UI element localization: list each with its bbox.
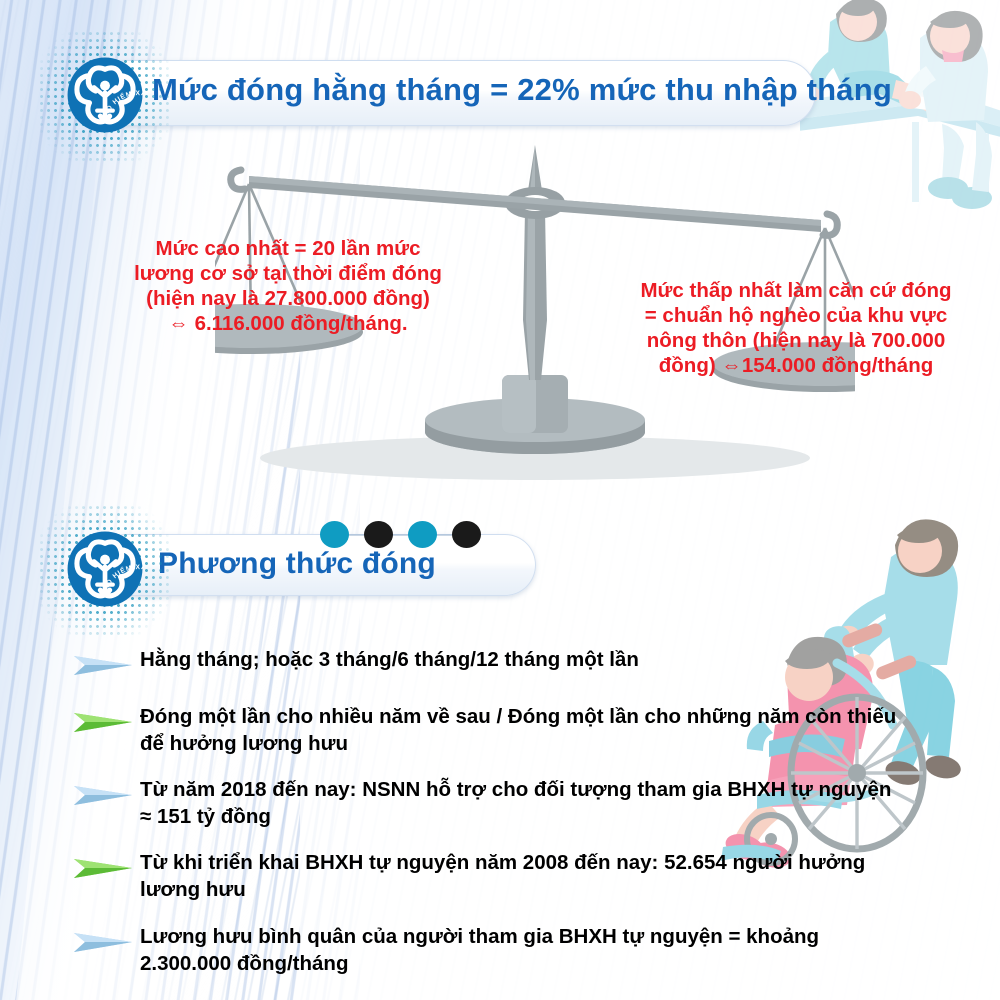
dot-4 xyxy=(452,521,481,548)
bhxh-logo: BẢO HIỂM XÃ HỘI VIỆT NAM xyxy=(66,56,144,134)
paper-plane-icon xyxy=(72,778,134,814)
list-item-text: Từ khi triển khai BHXH tự nguyện năm 200… xyxy=(140,849,970,903)
bhxh-logo-secondary: BẢO HIỂM XÃ HỘI VIỆT NAM xyxy=(66,530,144,608)
dot-1 xyxy=(320,521,349,548)
callout-lowest-contribution: Mức thấp nhất làm căn cứ đóng = chuẩn hộ… xyxy=(600,278,992,378)
paper-plane-icon xyxy=(72,648,134,684)
list-item-text: Từ năm 2018 đến nay: NSNN hỗ trợ cho đối… xyxy=(140,776,970,830)
list-item-text: Đóng một lần cho nhiều năm về sau / Đóng… xyxy=(140,703,970,757)
callout-highest-contribution: Mức cao nhất = 20 lần mức lương cơ sở tạ… xyxy=(98,236,478,336)
section2-title: Phương thức đóng xyxy=(158,547,436,581)
list-item-text: Lương hưu bình quân của người tham gia B… xyxy=(140,923,970,977)
bhxh-logo-icon-secondary: BẢO HIỂM XÃ HỘI VIỆT NAM xyxy=(66,530,144,608)
list-item-text: Hằng tháng; hoặc 3 tháng/6 tháng/12 thán… xyxy=(140,646,970,673)
paper-plane-icon xyxy=(72,851,134,887)
section1-title: Mức đóng hằng tháng = 22% mức thu nhập t… xyxy=(152,72,892,108)
bhxh-logo-icon: BẢO HIỂM XÃ HỘI VIỆT NAM xyxy=(66,56,144,134)
decorative-dots xyxy=(320,518,480,552)
paper-plane-icon xyxy=(72,705,134,741)
dot-3 xyxy=(408,521,437,548)
dot-2 xyxy=(364,521,393,548)
infographic-page: Mức đóng hằng tháng = 22% mức thu nhập t… xyxy=(0,0,1000,1000)
paper-plane-icon xyxy=(72,925,134,961)
